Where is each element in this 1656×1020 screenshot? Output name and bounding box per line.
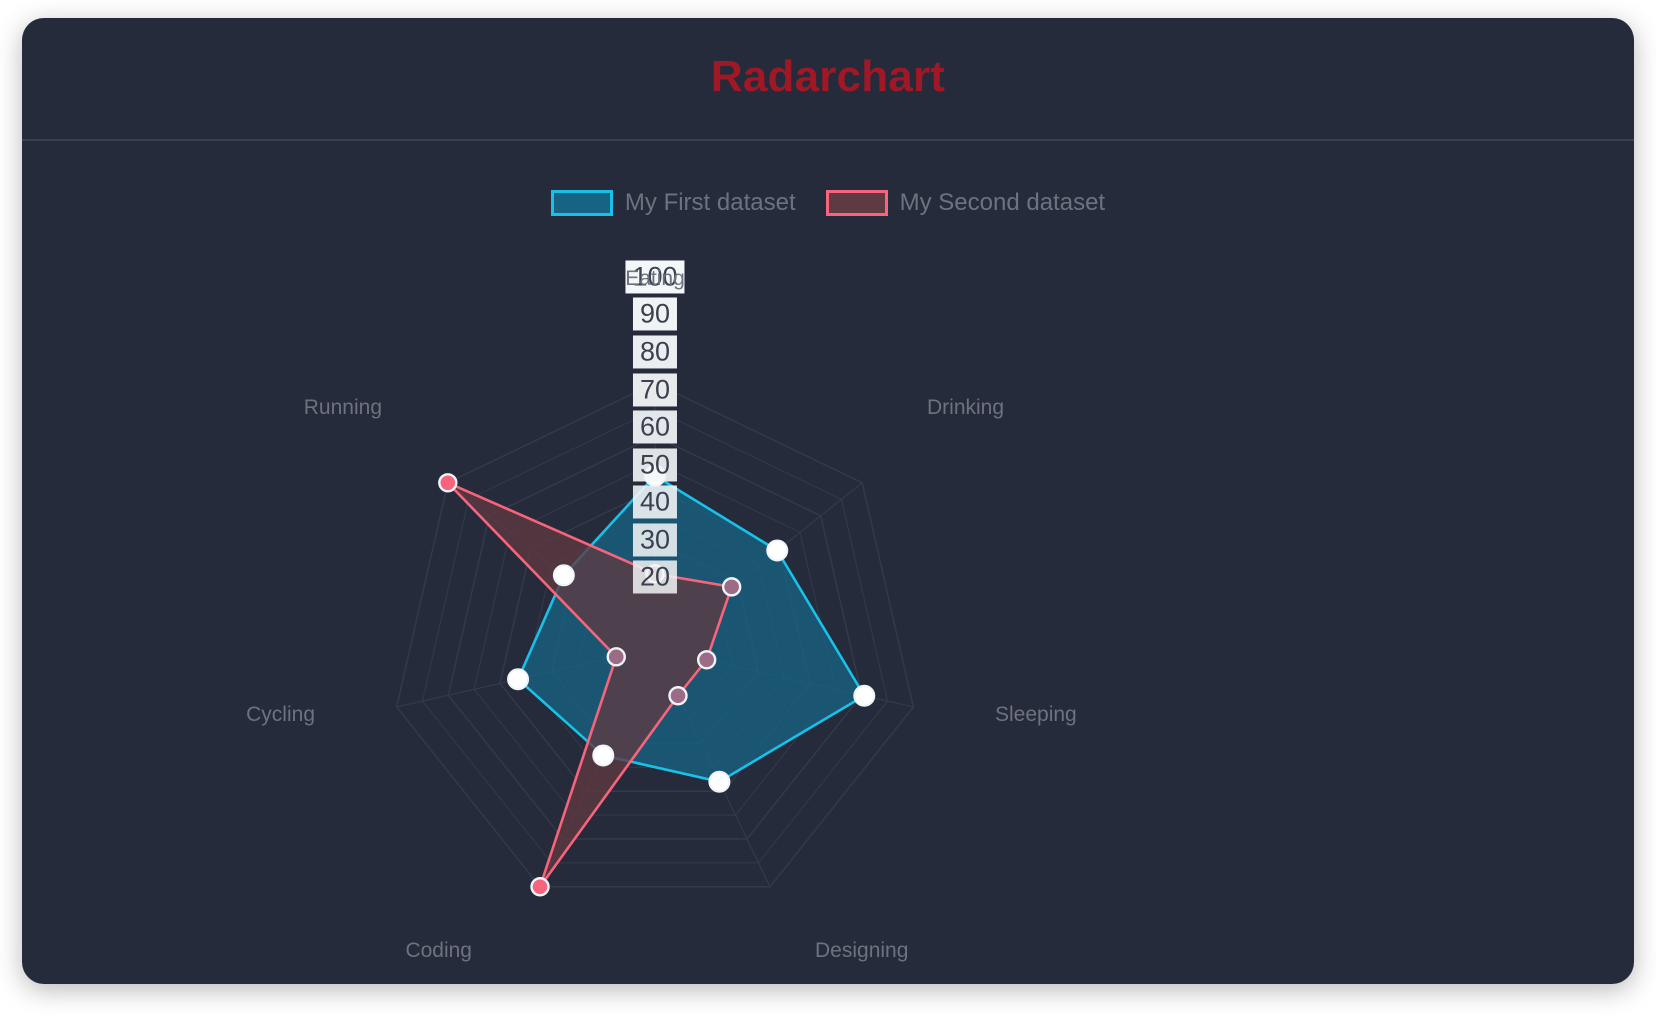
radar-data-point[interactable] [508,669,528,689]
axis-label-cycling: Cycling [246,703,315,726]
radar-data-point[interactable] [767,541,787,561]
radar-data-point[interactable] [593,745,613,765]
axis-label-running: Running [304,396,382,419]
radial-tick-label: 50 [633,448,677,481]
axis-label-eating: Eating [625,267,685,290]
page-title: Radarchart [22,52,1634,102]
radar-data-point[interactable] [709,772,729,792]
radial-tick-label: 70 [633,373,677,406]
radial-tick-label: 30 [633,523,677,556]
radar-chart-area: My First datasetMy Second dataset 100908… [22,141,1634,984]
radar-data-point[interactable] [723,578,740,595]
axis-label-drinking: Drinking [927,396,1004,419]
radar-data-point[interactable] [554,565,574,585]
radar-data-point[interactable] [670,687,687,704]
axis-label-sleeping: Sleeping [995,703,1077,726]
card-header: Radarchart [22,18,1634,141]
radar-data-point[interactable] [698,651,715,668]
radar-data-point[interactable] [532,878,549,895]
radial-tick-label: 80 [633,335,677,368]
radial-tick-label: 20 [633,560,677,593]
axis-label-coding: Coding [405,939,472,962]
radar-data-point[interactable] [439,474,456,491]
radar-plot [22,141,1634,984]
radial-tick-label: 90 [633,297,677,330]
axis-label-designing: Designing [815,939,908,962]
radar-data-point[interactable] [854,686,874,706]
radar-data-point[interactable] [608,648,625,665]
radial-tick-label: 60 [633,410,677,443]
chart-card: Radarchart My First datasetMy Second dat… [22,18,1634,984]
radial-tick-label: 40 [633,485,677,518]
